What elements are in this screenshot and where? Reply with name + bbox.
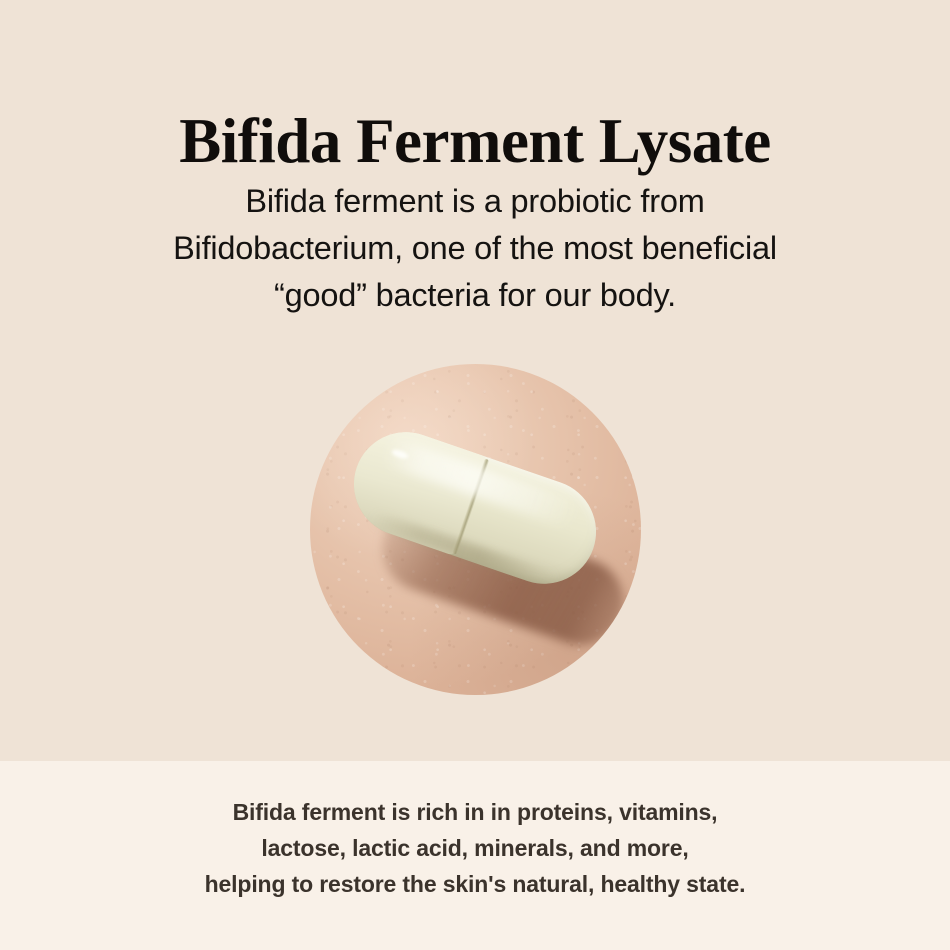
intro-line-2: Bifidobacterium, one of the most benefic…	[0, 225, 950, 272]
caption-line-3: helping to restore the skin's natural, h…	[0, 866, 950, 902]
intro-line-3: “good” bacteria for our body.	[0, 272, 950, 319]
caption-paragraph: Bifida ferment is rich in in proteins, v…	[0, 794, 950, 902]
page-title: Bifida Ferment Lysate	[0, 108, 950, 174]
intro-paragraph: Bifida ferment is a probiotic from Bifid…	[0, 178, 950, 319]
ingredient-infographic: Bifida Ferment Lysate Bifida ferment is …	[0, 0, 950, 950]
intro-line-1: Bifida ferment is a probiotic from	[0, 178, 950, 225]
caption-line-1: Bifida ferment is rich in in proteins, v…	[0, 794, 950, 830]
capsule-photo	[310, 364, 641, 695]
caption-line-2: lactose, lactic acid, minerals, and more…	[0, 830, 950, 866]
